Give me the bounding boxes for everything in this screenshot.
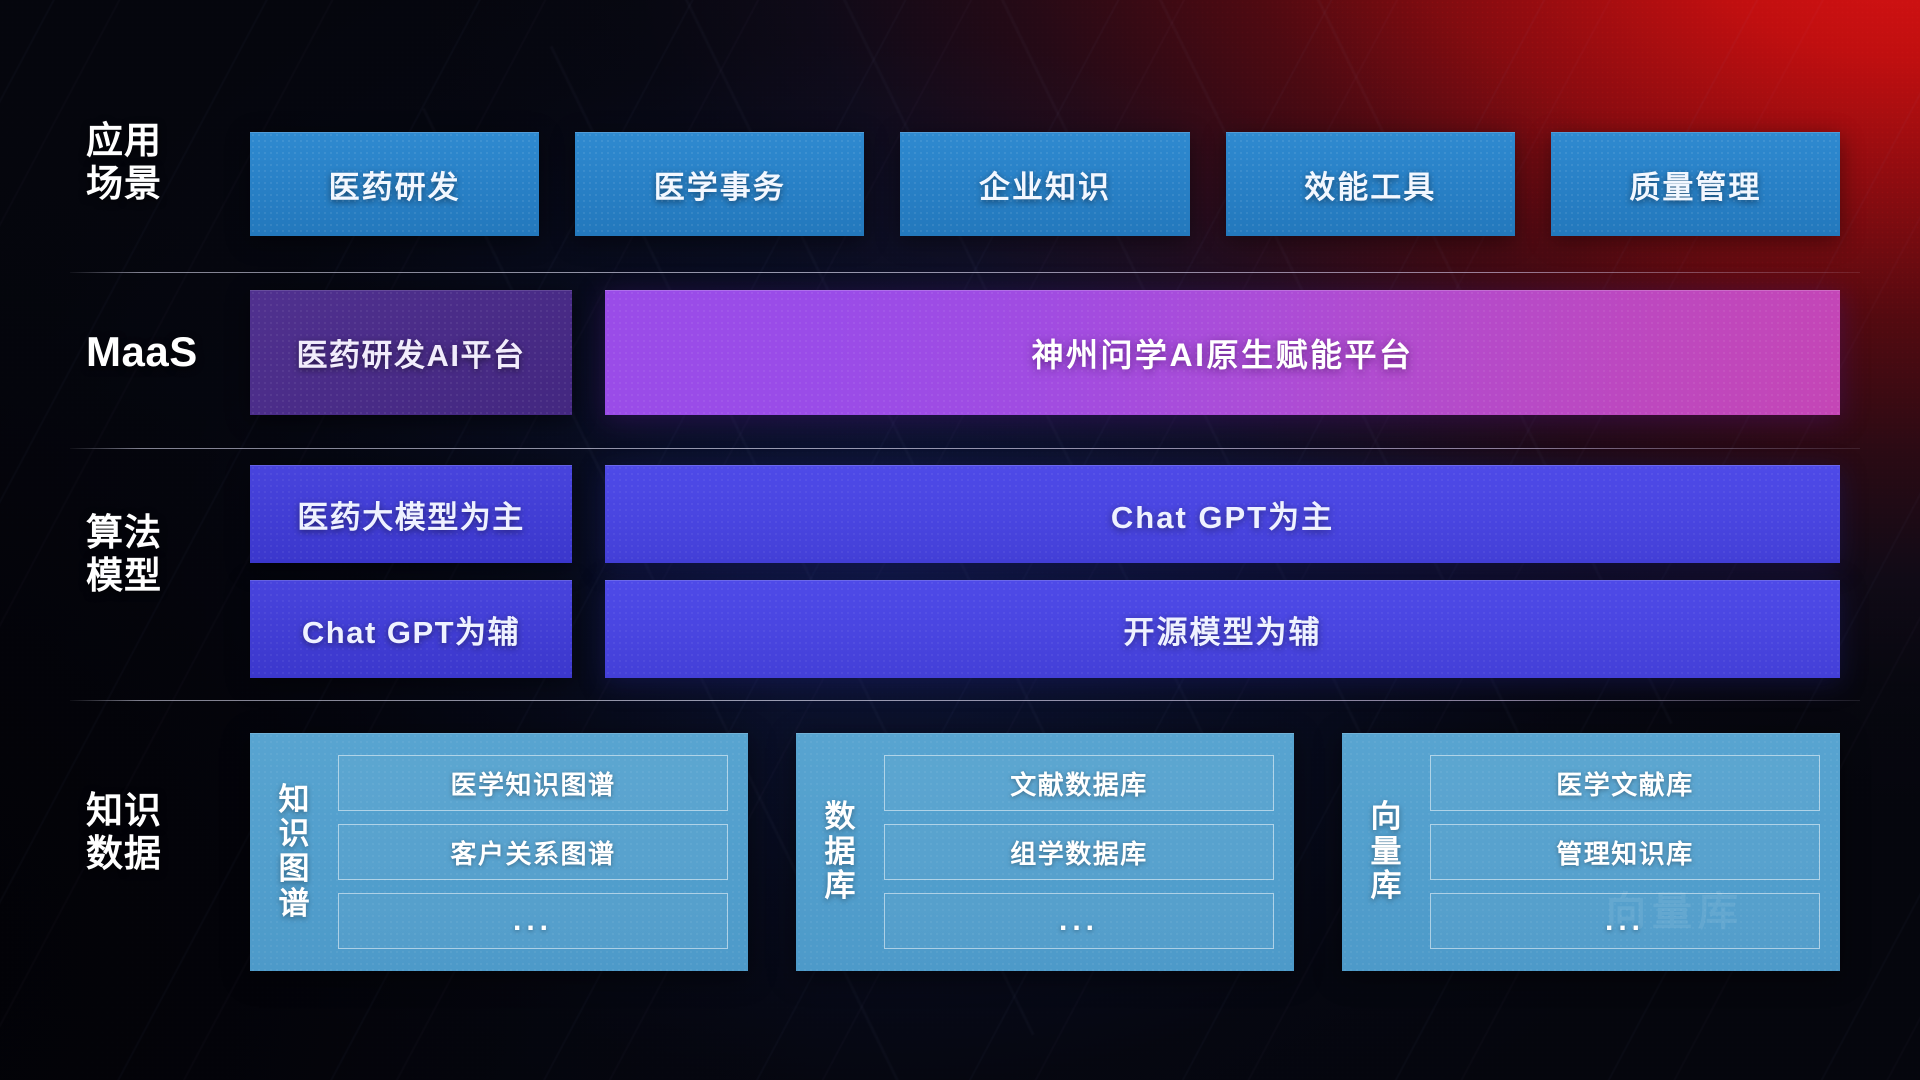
maas-cards: 医药研发AI平台 神州问学AI原生赋能平台 [250, 290, 1840, 415]
maas-card-drug-ai-platform[interactable]: 医药研发AI平台 [250, 290, 572, 415]
knowledge-panel-graph-items: 医学知识图谱 客户关系图谱 ... [338, 755, 728, 949]
divider-maas-algorithm [70, 448, 1860, 449]
divider-algorithm-knowledge [70, 700, 1860, 701]
knowledge-panel-vector-store-items: 医学文献库 管理知识库 ... [1430, 755, 1820, 949]
architecture-diagram: 应用 场景 医药研发 医学事务 企业知识 效能工具 质量管理 MaaS 医药研发… [0, 0, 1920, 1080]
knowledge-panel-database: 数 据 库 文献数据库 组学数据库 ... [796, 733, 1294, 971]
row-label-application-line2: 场景 [86, 163, 246, 206]
row-label-knowledge-line2: 数据 [86, 833, 246, 876]
knowledge-item-graph-more[interactable]: ... [338, 893, 728, 949]
divider-application-maas [70, 272, 1860, 273]
row-label-algorithm-line2: 模型 [86, 555, 246, 598]
knowledge-item-management-knowledge-store[interactable]: 管理知识库 [1430, 824, 1820, 880]
knowledge-panel-vector-store-title-char-1: 量 [1371, 835, 1402, 870]
knowledge-item-customer-relation-graph[interactable]: 客户关系图谱 [338, 824, 728, 880]
knowledge-item-medical-literature-store[interactable]: 医学文献库 [1430, 755, 1820, 811]
maas-card-shenzhou-wenxue-platform[interactable]: 神州问学AI原生赋能平台 [605, 290, 1840, 415]
knowledge-panel-database-title: 数 据 库 [812, 800, 868, 904]
row-label-algorithm-line1: 算法 [86, 512, 246, 555]
app-card-efficiency-tools[interactable]: 效能工具 [1226, 132, 1515, 236]
knowledge-panel-graph-title-char-3: 谱 [279, 887, 310, 922]
algo-card-opensource-secondary[interactable]: 开源模型为辅 [605, 580, 1840, 678]
knowledge-panel-graph: 知 识 图 谱 医学知识图谱 客户关系图谱 ... [250, 733, 748, 971]
row-label-algorithm: 算法 模型 [86, 512, 246, 598]
row-label-knowledge: 知识 数据 [86, 790, 246, 876]
knowledge-panels: 知 识 图 谱 医学知识图谱 客户关系图谱 ... 数 据 库 [250, 733, 1840, 971]
application-cards: 医药研发 医学事务 企业知识 效能工具 质量管理 [250, 132, 1840, 236]
algo-card-chatgpt-secondary[interactable]: Chat GPT为辅 [250, 580, 572, 678]
knowledge-item-medical-knowledge-graph[interactable]: 医学知识图谱 [338, 755, 728, 811]
knowledge-panel-vector-store-title: 向 量 库 [1358, 800, 1414, 904]
algorithm-row-primary: 医药大模型为主 Chat GPT为主 [250, 465, 1840, 563]
knowledge-panel-database-items: 文献数据库 组学数据库 ... [884, 755, 1274, 949]
knowledge-panel-graph-title-char-2: 图 [279, 852, 310, 887]
knowledge-panel-database-title-char-2: 库 [825, 869, 856, 904]
algo-card-drug-large-model-primary[interactable]: 医药大模型为主 [250, 465, 572, 563]
row-label-maas: MaaS [86, 328, 246, 377]
knowledge-item-omics-database[interactable]: 组学数据库 [884, 824, 1274, 880]
knowledge-item-database-more[interactable]: ... [884, 893, 1274, 949]
knowledge-panel-graph-title-char-0: 知 [279, 783, 310, 818]
row-label-application-line1: 应用 [86, 120, 246, 163]
app-card-medical-affairs[interactable]: 医学事务 [575, 132, 864, 236]
app-card-quality-management[interactable]: 质量管理 [1551, 132, 1840, 236]
app-card-drug-rd[interactable]: 医药研发 [250, 132, 539, 236]
algo-card-chatgpt-primary[interactable]: Chat GPT为主 [605, 465, 1840, 563]
knowledge-panel-graph-title: 知 识 图 谱 [266, 783, 322, 922]
knowledge-item-literature-database[interactable]: 文献数据库 [884, 755, 1274, 811]
knowledge-item-vector-store-more[interactable]: ... [1430, 893, 1820, 949]
knowledge-panel-database-title-char-0: 数 [825, 800, 856, 835]
knowledge-panel-vector-store-title-char-0: 向 [1371, 800, 1402, 835]
algorithm-row-secondary: Chat GPT为辅 开源模型为辅 [250, 580, 1840, 678]
row-label-knowledge-line1: 知识 [86, 790, 246, 833]
knowledge-panel-graph-title-char-1: 识 [279, 817, 310, 852]
row-label-application: 应用 场景 [86, 120, 246, 206]
knowledge-panel-database-title-char-1: 据 [825, 835, 856, 870]
knowledge-panel-vector-store: 向 量 库 医学文献库 管理知识库 ... 向量库 [1342, 733, 1840, 971]
app-card-enterprise-knowledge[interactable]: 企业知识 [900, 132, 1189, 236]
knowledge-panel-vector-store-title-char-2: 库 [1371, 869, 1402, 904]
